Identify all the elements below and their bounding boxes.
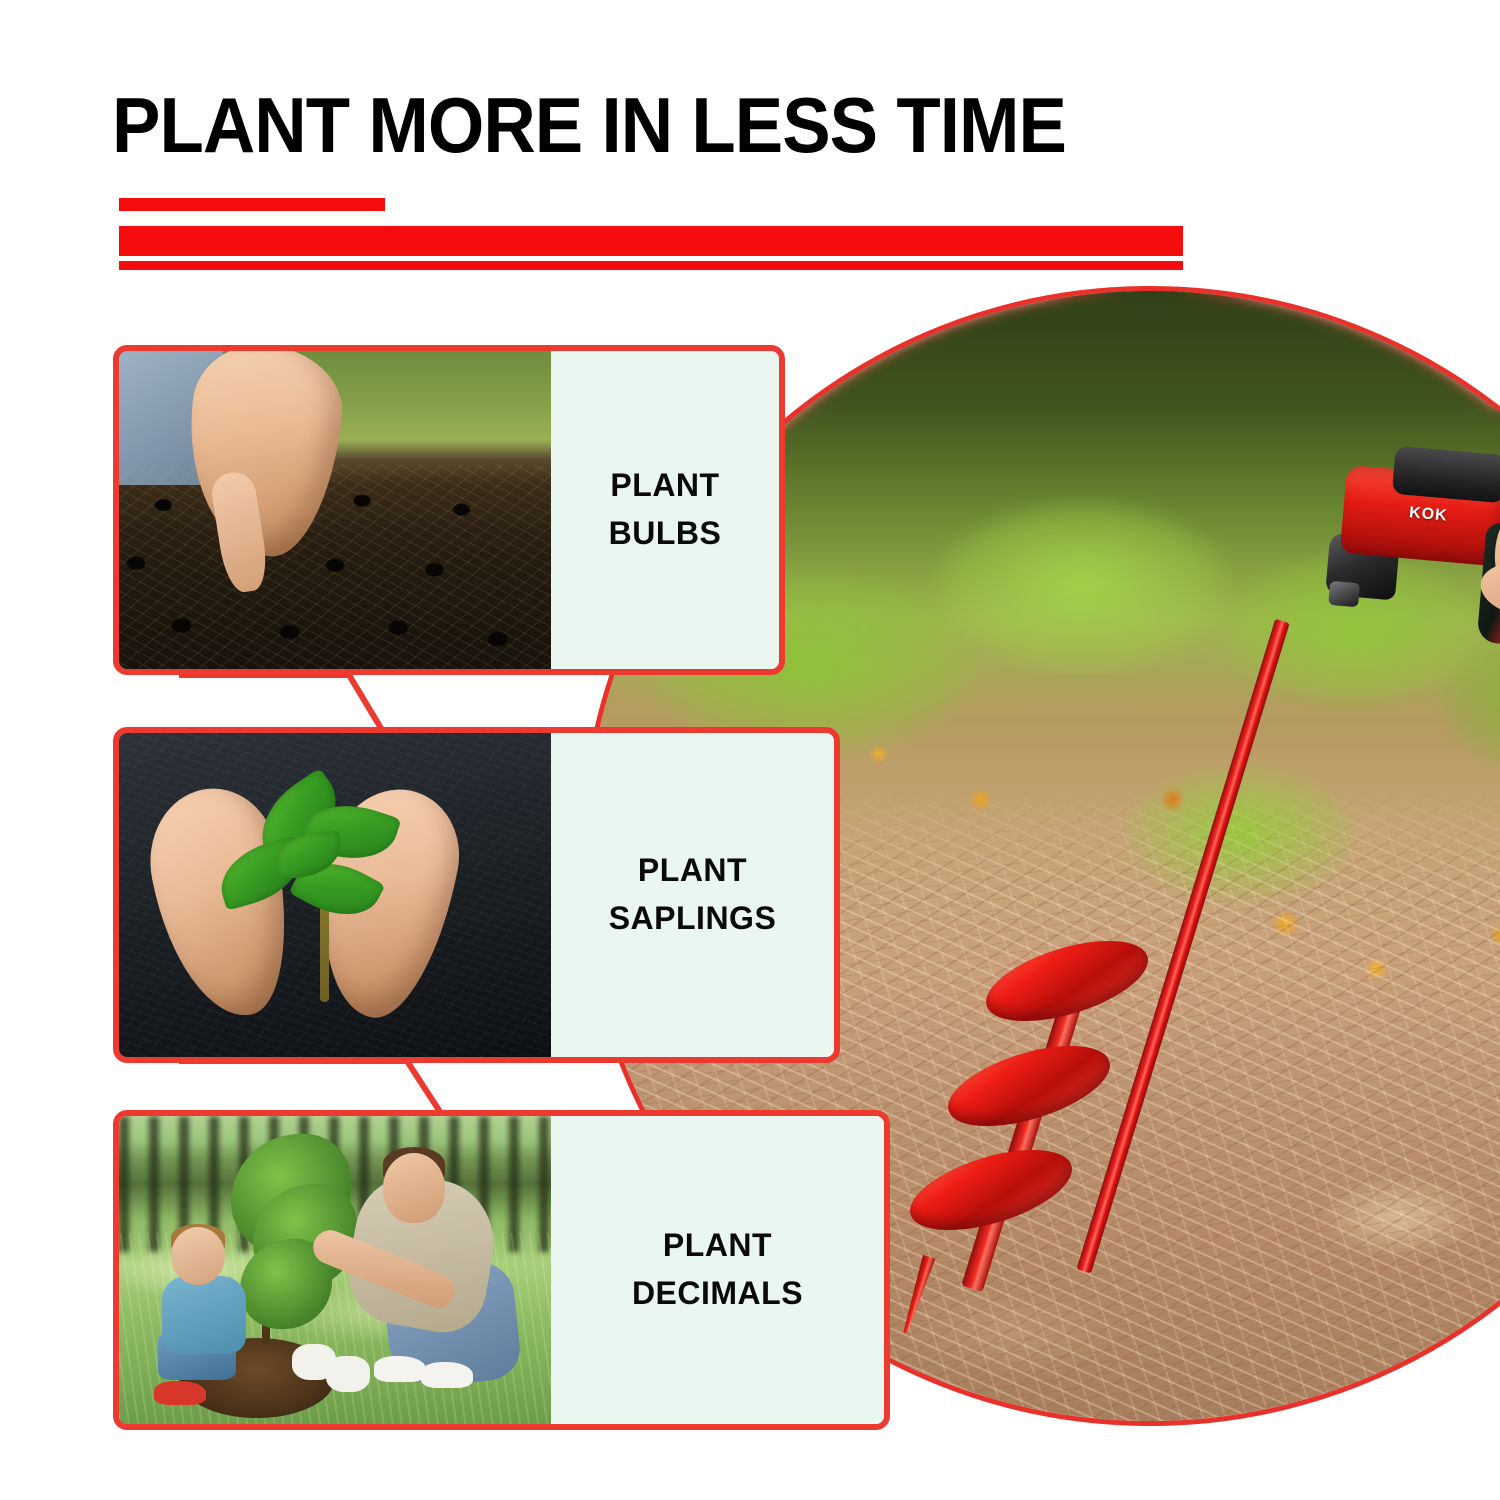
photo-man-head xyxy=(383,1153,445,1223)
card-connector-diagonal xyxy=(346,673,384,730)
feature-card-bulbs: PLANT BULBS xyxy=(113,345,785,675)
feature-label-bulbs: PLANT BULBS xyxy=(551,351,779,669)
photo-shoe xyxy=(421,1362,473,1388)
accent-rule-thick xyxy=(119,226,1183,256)
feature-card-decimals: PLANT DECIMALS xyxy=(113,1110,890,1430)
feature-label-line1: PLANT xyxy=(638,854,747,888)
photo-boy-head xyxy=(171,1227,225,1285)
feature-photo-decimals xyxy=(119,1116,551,1424)
accent-rule-short xyxy=(119,198,385,211)
photo-glove xyxy=(326,1356,370,1392)
feature-label-line1: PLANT xyxy=(663,1229,772,1263)
photo-boy-shirt xyxy=(162,1276,246,1354)
feature-label-line2: SAPLINGS xyxy=(609,902,777,936)
feature-card-saplings: PLANT SAPLINGS xyxy=(113,727,840,1063)
photo-boy-shoe xyxy=(154,1381,206,1405)
feature-photo-saplings xyxy=(119,733,551,1057)
feature-label-saplings: PLANT SAPLINGS xyxy=(551,733,834,1057)
page-title: PLANT MORE IN LESS TIME xyxy=(112,86,1066,164)
photo-shoe xyxy=(374,1356,426,1382)
product-infographic: PLANT MORE IN LESS TIME KOK xyxy=(0,0,1500,1500)
photo-soil-with-holes xyxy=(119,465,551,669)
feature-label-line1: PLANT xyxy=(610,469,719,503)
feature-label-line2: BULBS xyxy=(609,517,722,551)
feature-label-decimals: PLANT DECIMALS xyxy=(551,1116,884,1424)
card-connector-diagonal xyxy=(404,1059,444,1117)
accent-rule-thin xyxy=(119,261,1183,270)
feature-label-line2: DECIMALS xyxy=(632,1277,803,1311)
feature-photo-bulbs xyxy=(119,351,551,669)
